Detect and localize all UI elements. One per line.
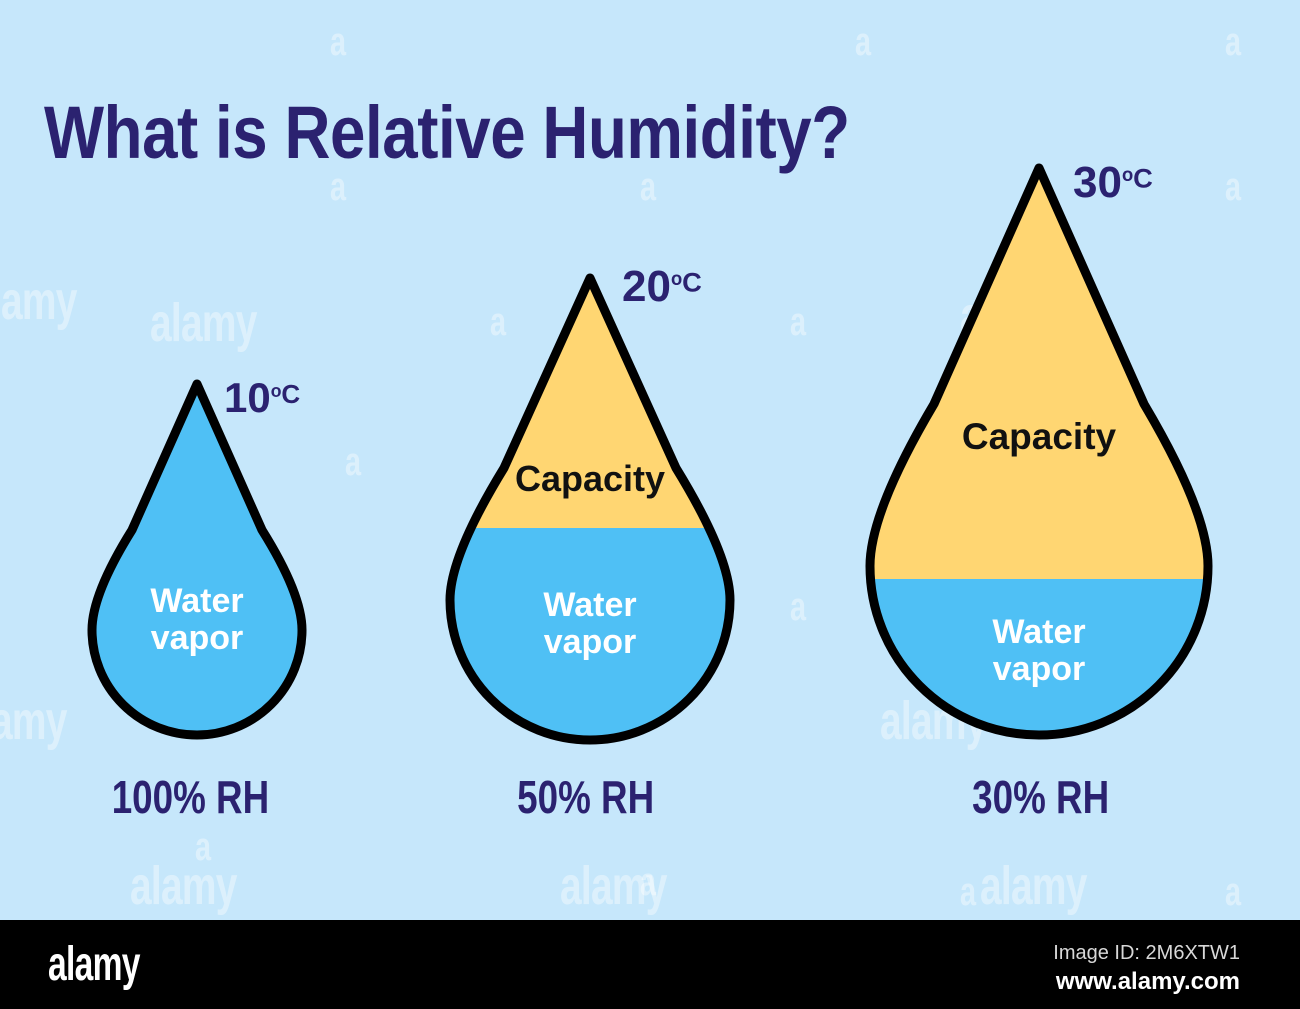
page-title: What is Relative Humidity? <box>44 96 850 170</box>
droplet-shape-20c <box>444 272 736 740</box>
temp-unit-20c: ᵒC <box>671 267 702 298</box>
watermark-letter: a <box>790 300 805 345</box>
image-id-text: Image ID: 2M6XTW1 <box>1053 942 1240 965</box>
droplet-30c: Capacity Water vapor <box>864 162 1214 740</box>
infographic-page: alamy alamy alamy alamy alamy alamy alam… <box>0 0 1300 1009</box>
droplet-20c: Capacity Water vapor <box>444 272 736 740</box>
watermark-letter: a <box>640 860 655 905</box>
temp-unit-10c: ᵒC <box>271 379 300 409</box>
alamy-footer-bar: alamy Image ID: 2M6XTW1 www.alamy.com <box>0 920 1300 1009</box>
watermark-letter: a <box>790 585 805 630</box>
temperature-label-30c: 30ᵒC <box>1073 158 1153 208</box>
temp-value-30c: 30 <box>1073 158 1122 207</box>
watermark-text: alamy <box>130 855 237 917</box>
rh-label-20c: 50% RH <box>517 770 654 824</box>
droplet-10c: Water vapor <box>86 378 308 740</box>
watermark-text: alamy <box>0 270 77 332</box>
watermark-text: alamy <box>0 690 67 752</box>
watermark-letter: a <box>345 440 360 485</box>
temp-unit-30c: ᵒC <box>1122 163 1153 194</box>
temperature-label-20c: 20ᵒC <box>622 262 702 312</box>
rh-label-10c: 100% RH <box>112 770 270 824</box>
droplet-shape-30c <box>864 162 1214 740</box>
alamy-url-text: www.alamy.com <box>1056 968 1240 996</box>
watermark-letter: a <box>855 20 870 65</box>
watermark-letter: a <box>330 20 345 65</box>
watermark-text: alamy <box>980 855 1087 917</box>
temp-value-20c: 20 <box>622 262 671 311</box>
droplet-shape-10c <box>86 378 308 740</box>
rh-label-30c: 30% RH <box>972 770 1109 824</box>
watermark-letter: a <box>960 870 975 915</box>
vapor-fill-20c <box>444 528 736 740</box>
watermark-letter: a <box>195 825 210 870</box>
watermark-letter: a <box>1225 870 1240 915</box>
temperature-label-10c: 10ᵒC <box>224 374 300 422</box>
temp-value-10c: 10 <box>224 374 271 421</box>
vapor-fill-30c <box>864 579 1214 740</box>
watermark-letter: a <box>1225 20 1240 65</box>
watermark-letter: a <box>1225 165 1240 210</box>
capacity-fill-30c <box>864 162 1214 579</box>
watermark-text: alamy <box>560 855 667 917</box>
alamy-logo: alamy <box>48 941 140 989</box>
watermark-text: alamy <box>150 292 257 354</box>
